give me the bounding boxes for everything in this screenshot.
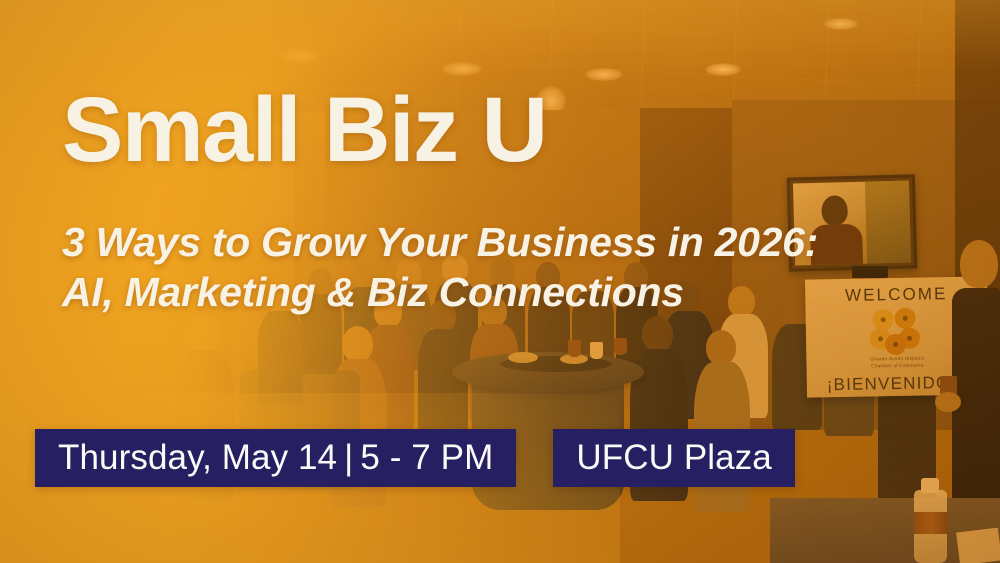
event-poster: WELCOME Greater Austin Hispanic Chamber …: [0, 0, 1000, 563]
event-date: Thursday, May 14: [58, 438, 337, 477]
poster-title: Small Biz U: [62, 80, 547, 180]
venue-badge: UFCU Plaza: [553, 429, 794, 487]
event-venue: UFCU Plaza: [576, 438, 771, 477]
poster-subtitle: 3 Ways to Grow Your Business in 2026: AI…: [62, 217, 818, 317]
detail-badges: Thursday, May 14|5 - 7 PM UFCU Plaza: [35, 429, 795, 487]
event-time: 5 - 7 PM: [360, 438, 493, 477]
badge-separator: |: [344, 429, 353, 487]
date-time-badge: Thursday, May 14|5 - 7 PM: [35, 429, 516, 487]
poster-content: Small Biz U 3 Ways to Grow Your Business…: [0, 0, 1000, 563]
subtitle-line-2: AI, Marketing & Biz Connections: [62, 267, 818, 317]
subtitle-line-1: 3 Ways to Grow Your Business in 2026:: [62, 217, 818, 267]
